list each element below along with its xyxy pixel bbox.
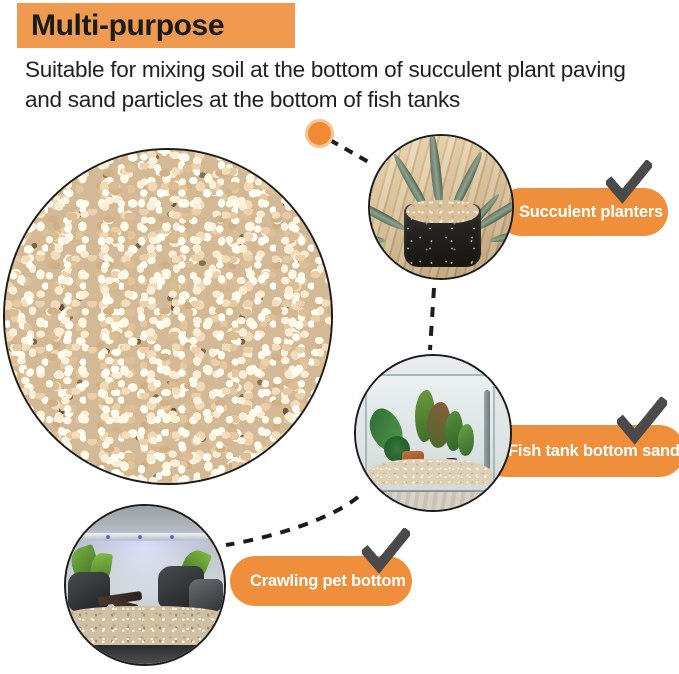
led-dot (170, 535, 174, 539)
gravel-texture (3, 148, 333, 485)
check-icon (362, 528, 410, 576)
aquarium-sand-substrate (367, 459, 493, 485)
led-dot (138, 535, 142, 539)
callout-photo-fish-tank (354, 354, 512, 512)
aquarium-scene (356, 356, 510, 510)
connector-succulent-to-fishtank (430, 288, 434, 350)
infographic-canvas: Multi-purpose Suitable for mixing soil a… (0, 0, 679, 674)
pot-gravel-topping (406, 200, 480, 223)
callout-photo-succulent-planters (368, 134, 514, 280)
led-dot (106, 535, 110, 539)
connector-dot-to-succulent (330, 140, 372, 164)
terrarium-scene (66, 506, 224, 664)
terrarium-gravel-substrate (66, 606, 224, 647)
table-surface (356, 492, 510, 510)
header-badge: Multi-purpose (17, 3, 295, 48)
hero-gravel-photo (3, 148, 333, 485)
check-icon (617, 397, 667, 447)
check-icon (606, 160, 652, 206)
aquatic-plant (458, 424, 474, 456)
header-badge-label: Multi-purpose (31, 11, 224, 41)
connector-fishtank-to-terrarium (226, 497, 358, 545)
connector-dot (305, 119, 334, 148)
callout-photo-terrarium (64, 504, 226, 666)
led-light-bar (77, 533, 210, 540)
terrarium-base (66, 645, 224, 664)
aquarium-filter-tube (484, 390, 490, 470)
header-subtitle: Suitable for mixing soil at the bottom o… (25, 55, 665, 115)
succulent-scene (370, 136, 512, 278)
